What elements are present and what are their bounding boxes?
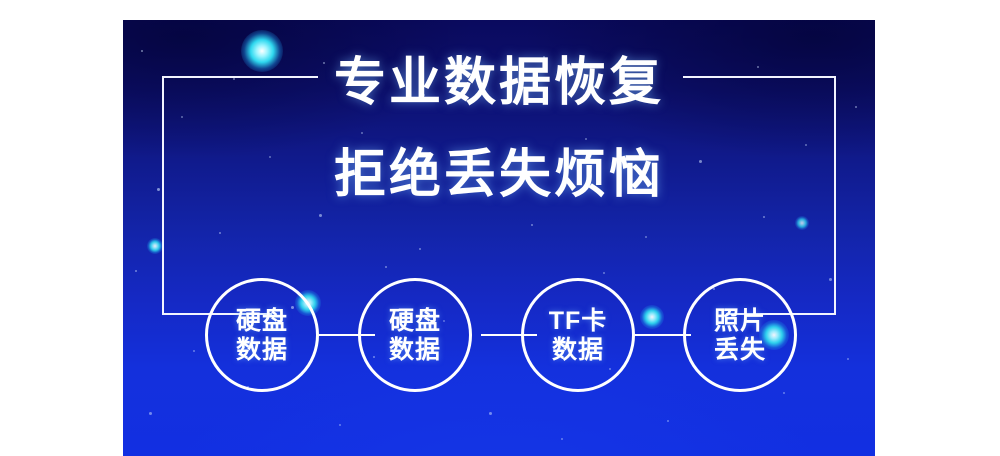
glow-star-right-edge [795, 216, 809, 230]
star [181, 116, 183, 118]
star [561, 438, 563, 440]
service-label-line2: 数据 [236, 336, 288, 364]
star [219, 232, 221, 234]
service-label-line1: 硬盘 [389, 307, 441, 335]
service-circle-row: 硬盘 数据 硬盘 数据 TF卡 数据 照片 丢失 [123, 252, 875, 420]
service-circle-hard-disk-data-2[interactable]: 硬盘 数据 [358, 278, 472, 392]
service-circle-hard-disk-data-1[interactable]: 硬盘 数据 [205, 278, 319, 392]
star [419, 248, 421, 250]
star [339, 424, 341, 426]
service-label-line1: TF卡 [549, 307, 608, 335]
poster-canvas: 专业数据恢复 拒绝丢失烦恼 硬盘 数据 硬盘 数据 TF卡 数据 照片 丢失 [0, 0, 1000, 456]
star [805, 144, 807, 146]
star [361, 132, 363, 134]
star [141, 50, 143, 52]
service-label-line2: 数据 [552, 336, 604, 364]
artwork-background: 专业数据恢复 拒绝丢失烦恼 硬盘 数据 硬盘 数据 TF卡 数据 照片 丢失 [123, 20, 875, 456]
service-label-line1: 硬盘 [236, 307, 288, 335]
service-label-line1: 照片 [714, 307, 766, 335]
star [645, 236, 647, 238]
page-subtitle: 拒绝丢失烦恼 [123, 148, 875, 203]
star [531, 224, 533, 226]
page-title: 专业数据恢复 [123, 56, 875, 111]
service-circle-tf-card-data[interactable]: TF卡 数据 [521, 278, 635, 392]
star [763, 216, 765, 218]
service-label-line2: 数据 [389, 336, 441, 364]
star [319, 214, 322, 217]
service-circle-photo-loss[interactable]: 照片 丢失 [683, 278, 797, 392]
star [667, 420, 669, 422]
star [585, 138, 587, 140]
service-label-line2: 丢失 [714, 336, 766, 364]
